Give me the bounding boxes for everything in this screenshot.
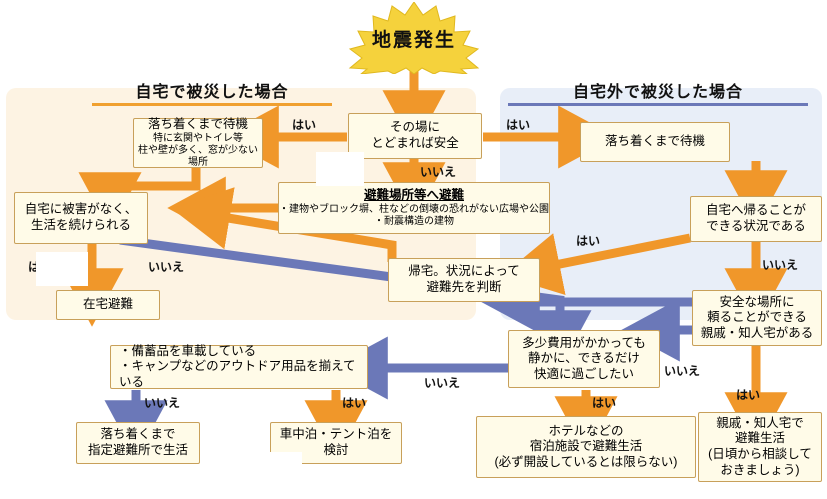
edge-label-no-start: いいえ (420, 163, 456, 180)
node-start-line1: その場に (390, 120, 440, 136)
node-can-return-line1: 自宅へ帰ることが (706, 203, 806, 219)
earthquake-burst: 地震発生 (330, 2, 498, 74)
node-shelter-in-place[interactable]: 在宅避難 (56, 290, 160, 320)
node-relatives-available[interactable]: 安全な場所に 頼ることができる 親戚・知人宅がある (692, 290, 822, 346)
panel-home-title-text: 自宅で被災した場合 (135, 84, 288, 101)
edge-label-no-can-return: いいえ (762, 256, 798, 273)
node-hotel-line2: 宿泊施設で避難生活 (530, 439, 643, 455)
panel-away-title: 自宅外で被災した場合 (508, 78, 808, 102)
node-start-line2: とどまれば安全 (371, 136, 459, 152)
node-can-return-line2: できる状況である (706, 219, 806, 235)
edge-label-yes-relatives: はい (736, 386, 760, 403)
node-relatives-available-line2: 頼ることができる (707, 310, 807, 326)
node-wait-home-sub1: 特に玄関やトイレ等 (153, 133, 243, 145)
node-home-ok[interactable]: 自宅に被害がなく、 生活を続けられる (14, 192, 148, 244)
node-relatives-available-line3: 親戚・知人宅がある (701, 326, 814, 342)
edge-label-no-comfort: いいえ (424, 374, 460, 391)
node-evacuate[interactable]: 避難場所等へ避難 ・建物やブロック塀、柱などの倒壊の恐れがない広場や公園 ・耐震… (278, 182, 550, 234)
edge-label-no-supplies: いいえ (144, 394, 180, 411)
panel-away-underline (508, 103, 808, 106)
node-wait-away[interactable]: 落ち着くまで待機 (580, 122, 730, 162)
edge-label-yes-can-return: はい (576, 232, 600, 249)
node-wait-away-line1: 落ち着くまで待機 (605, 134, 705, 150)
edge-label-no-relatives: いいえ (664, 362, 700, 379)
node-relatives-stay-line3: (日頃から相談して (708, 447, 812, 463)
node-wait-home[interactable]: 落ち着くまで待機 特に玄関やトイレ等 柱や壁が多く、窓が少ない場所 (133, 118, 263, 168)
node-hotel[interactable]: ホテルなどの 宿泊施設で避難生活 (必ず開設しているとは限らない) (476, 416, 696, 478)
edge-label-yes-comfort: はい (592, 394, 616, 411)
node-relatives-stay[interactable]: 親戚・知人宅で 避難生活 (日頃から相談して おきましょう) (698, 412, 822, 482)
node-home-ok-line2: 生活を続けられる (31, 218, 131, 234)
burst-label: 地震発生 (330, 2, 498, 74)
node-can-return[interactable]: 自宅へ帰ることが できる状況である (690, 196, 822, 242)
node-comfort-line1: 多少費用がかかっても (522, 336, 646, 352)
node-supplies-line1: ・備蓄品を車載している (119, 344, 256, 360)
node-designated-shelter[interactable]: 落ち着くまで 指定避難所で生活 (76, 422, 200, 464)
node-designated-shelter-line1: 落ち着くまで (100, 427, 175, 443)
node-return-judge-line2: 避難先を判断 (426, 280, 501, 296)
occluder-patch-left (36, 252, 88, 286)
edge-label-yes-top-right: はい (506, 116, 530, 133)
panel-home-underline (92, 103, 332, 106)
node-supplies-line2: ・キャンプなどのアウトドア用品を揃えている (119, 359, 367, 390)
node-comfort-line3: 快適に過ごしたい (534, 367, 634, 383)
node-return-judge-line1: 帰宅。状況によって (408, 264, 520, 280)
node-comfort[interactable]: 多少費用がかかっても 静かに、できるだけ 快適に過ごしたい (508, 330, 660, 388)
flowchart-canvas: 地震発生 自宅で被災した場合 自宅外で被災した場合 その場に とどまれば安全 落… (0, 0, 827, 499)
node-wait-home-line1: 落ち着くまで待機 (148, 117, 248, 133)
occluder-patch-top (316, 152, 364, 186)
node-car-tent-line2: 検討 (323, 443, 348, 459)
node-comfort-line2: 静かに、できるだけ (528, 351, 640, 367)
node-supplies[interactable]: ・備蓄品を車載している ・キャンプなどのアウトドア用品を揃えている (110, 345, 368, 389)
node-return-judge[interactable]: 帰宅。状況によって 避難先を判断 (388, 258, 540, 302)
panel-home-title: 自宅で被災した場合 (92, 78, 332, 102)
node-designated-shelter-line2: 指定避難所で生活 (88, 443, 188, 459)
node-relatives-stay-line4: おきましょう) (720, 463, 799, 479)
node-relatives-available-line1: 安全な場所に (719, 295, 794, 311)
node-evacuate-line1: 避難場所等へ避難 (364, 188, 464, 204)
node-wait-home-sub2: 柱や壁が多く、窓が少ない場所 (134, 145, 262, 169)
node-car-tent-line1: 車中泊・テント泊を (280, 427, 393, 443)
occluder-patch-bottom (250, 452, 302, 486)
node-shelter-in-place-line1: 在宅避難 (83, 297, 133, 313)
node-hotel-line3: (必ず開設しているとは限らない) (495, 455, 678, 471)
node-hotel-line1: ホテルなどの (548, 424, 623, 440)
node-evacuate-sub2: ・耐震構造の建物 (374, 216, 454, 228)
node-evacuate-sub1: ・建物やブロック塀、柱などの倒壊の恐れがない広場や公園 (279, 204, 549, 216)
edge-label-yes-top-left: はい (292, 116, 316, 133)
edge-label-no-home-ok: いいえ (148, 258, 184, 275)
panel-away-title-text: 自宅外で被災した場合 (573, 84, 743, 101)
node-start[interactable]: その場に とどまれば安全 (348, 113, 482, 159)
node-relatives-stay-line1: 親戚・知人宅で (716, 416, 804, 432)
node-home-ok-line1: 自宅に被害がなく、 (25, 202, 138, 218)
edge-label-yes-supplies: はい (342, 394, 366, 411)
node-relatives-stay-line2: 避難生活 (735, 431, 785, 447)
